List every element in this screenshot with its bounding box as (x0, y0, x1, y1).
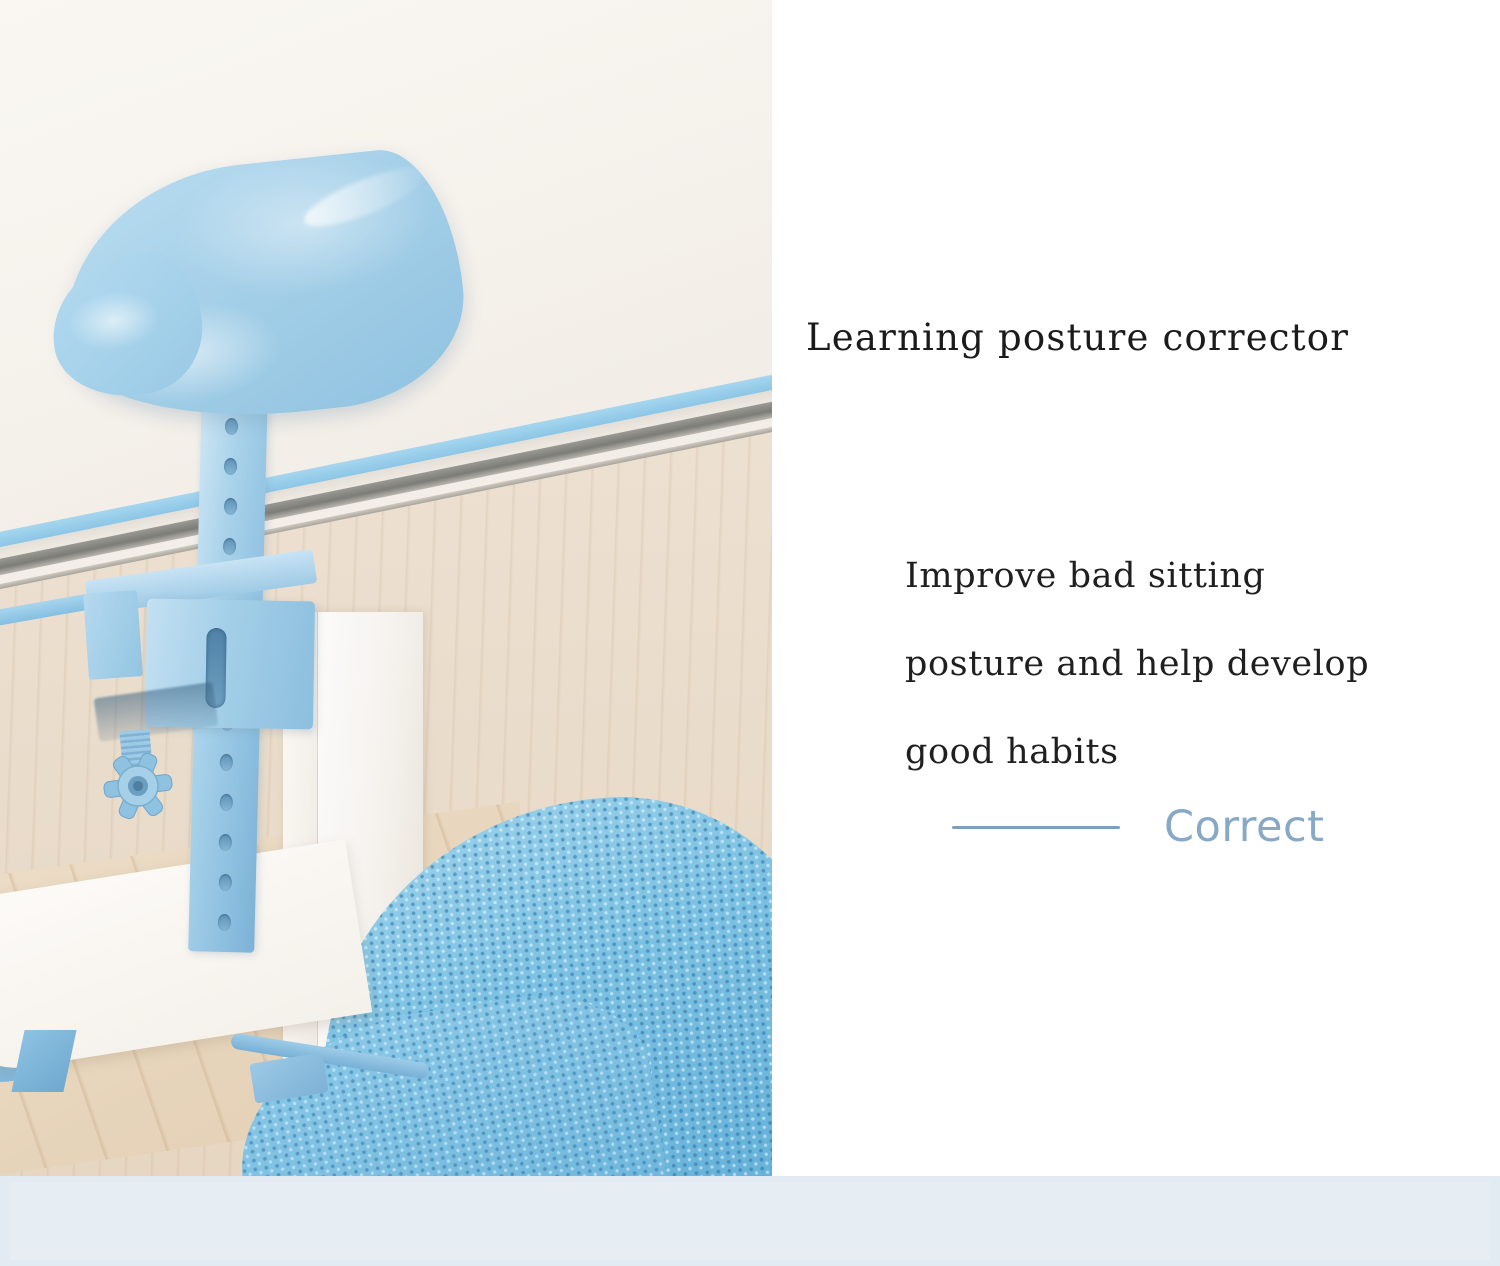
post-hole (218, 914, 231, 931)
description-line-2: posture and help develop (905, 620, 1500, 708)
marketing-copy-panel: Learning posture corrector Improve bad s… (772, 0, 1500, 1176)
correct-callout: Correct (952, 806, 1324, 849)
feature-description: Improve bad sitting posture and help dev… (905, 532, 1500, 796)
post-hole (219, 834, 232, 851)
page-title: Learning posture corrector (806, 318, 1349, 359)
post-hole (219, 874, 232, 891)
post-hole (223, 538, 236, 555)
post-hole (224, 498, 237, 515)
post-hole (220, 754, 233, 771)
description-line-3: good habits (905, 708, 1500, 796)
post-hole (225, 418, 238, 435)
bottom-band-inner (10, 1182, 1490, 1260)
clamp-thumbscrew-knob (92, 747, 184, 825)
clamp-arm-face (83, 590, 143, 680)
post-hole (220, 794, 233, 811)
description-line-1: Improve bad sitting (905, 532, 1500, 620)
bottom-color-band (0, 1176, 1500, 1266)
product-photo (0, 0, 772, 1176)
callout-rule-line (952, 826, 1120, 829)
post-hole (224, 458, 237, 475)
product-feature-page: Learning posture corrector Improve bad s… (0, 0, 1500, 1266)
callout-label: Correct (1164, 806, 1324, 849)
